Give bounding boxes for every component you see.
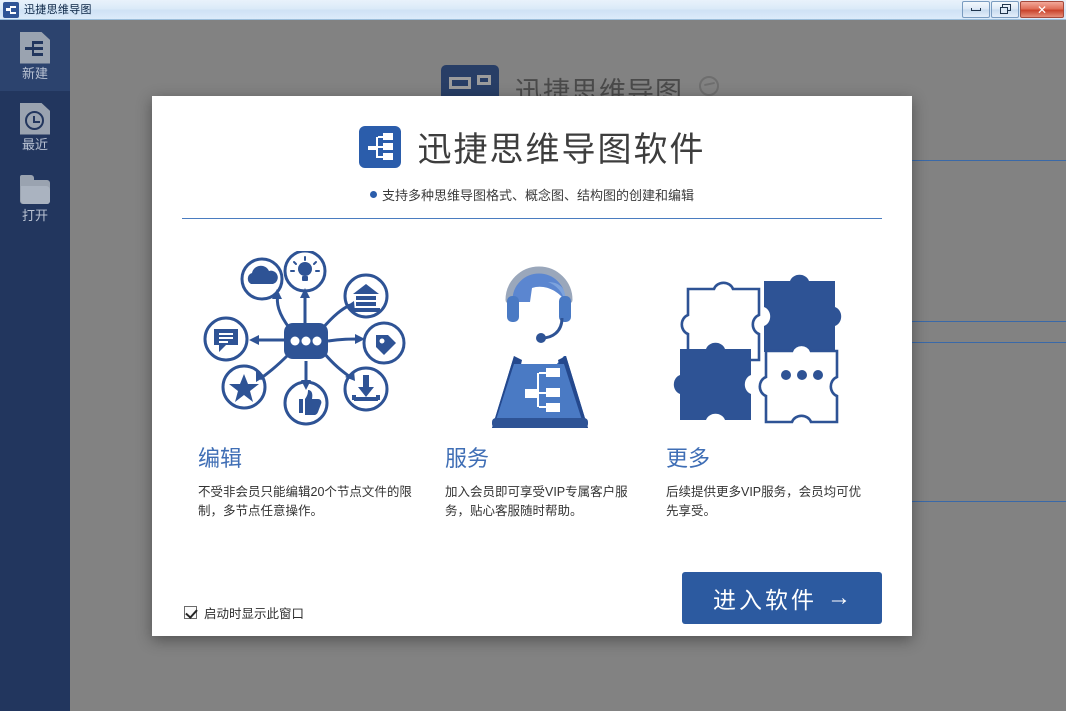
dialog-subtitle: 支持多种思维导图格式、概念图、结构图的创建和编辑 xyxy=(152,185,912,204)
dialog-header: 迅捷思维导图软件 支持多种思维导图格式、概念图、结构图的创建和编辑 xyxy=(152,96,912,219)
dialog-footer: 启动时显示此窗口 进入软件 → xyxy=(152,540,912,636)
sidebar: 新建 最近 打开 xyxy=(0,20,70,711)
mindmap-logo-icon xyxy=(359,126,401,168)
close-button[interactable]: ✕ xyxy=(1020,1,1064,18)
feature-body: 加入会员即可享受VIP专属客户服务，贴心客服随时帮助。 xyxy=(445,483,634,521)
show-on-startup-checkbox[interactable]: 启动时显示此窗口 xyxy=(184,603,304,622)
dialog-subtitle-text: 支持多种思维导图格式、概念图、结构图的创建和编辑 xyxy=(382,185,694,204)
recent-clock-icon xyxy=(20,103,50,135)
feature-heading: 服务 xyxy=(445,441,634,473)
sidebar-item-label: 新建 xyxy=(22,67,48,80)
checkbox-label: 启动时显示此窗口 xyxy=(204,603,304,622)
enter-software-button[interactable]: 进入软件 → xyxy=(682,572,882,624)
background-panel-1 xyxy=(897,160,1066,322)
bullet-dot-icon xyxy=(370,191,377,198)
new-document-icon xyxy=(20,32,50,64)
sidebar-item-recent[interactable]: 最近 xyxy=(0,91,70,162)
feature-heading: 编辑 xyxy=(198,441,413,473)
feature-edit: 编辑 不受非会员只能编辑20个节点文件的限制，多节点任意操作。 xyxy=(182,243,429,521)
window-title: 迅捷思维导图 xyxy=(24,0,92,20)
enter-software-label: 进入软件 xyxy=(713,581,817,615)
mindmap-hub-illustration xyxy=(198,243,413,433)
minimize-button[interactable] xyxy=(962,1,990,18)
sidebar-item-label: 打开 xyxy=(22,209,48,222)
puzzle-pieces-illustration xyxy=(666,243,866,433)
sidebar-item-label: 最近 xyxy=(22,138,48,151)
feature-more: 更多 后续提供更多VIP服务，会员均可优先享受。 xyxy=(650,243,882,521)
page-title: 迅捷思维导图软件 xyxy=(418,122,706,171)
application-window: 迅捷思维导图 ✕ 迅捷思维导图 xyxy=(0,0,1066,711)
window-controls: ✕ xyxy=(962,1,1064,18)
feature-heading: 更多 xyxy=(666,441,866,473)
sidebar-item-new[interactable]: 新建 xyxy=(0,20,70,91)
arrow-right-icon: → xyxy=(827,585,851,612)
feature-columns: 编辑 不受非会员只能编辑20个节点文件的限制，多节点任意操作。 xyxy=(152,219,912,521)
open-folder-icon xyxy=(20,174,50,206)
feature-body: 后续提供更多VIP服务，会员均可优先享受。 xyxy=(666,483,866,521)
feature-service: 服务 加入会员即可享受VIP专属客户服务，贴心客服随时帮助。 xyxy=(429,243,650,521)
title-bar: 迅捷思维导图 ✕ xyxy=(0,0,1066,20)
feature-body: 不受非会员只能编辑20个节点文件的限制，多节点任意操作。 xyxy=(198,483,413,521)
restore-button[interactable] xyxy=(991,1,1019,18)
checkbox-icon[interactable] xyxy=(184,606,197,619)
sidebar-item-open[interactable]: 打开 xyxy=(0,162,70,233)
background-panel-2 xyxy=(897,342,1066,502)
app-icon xyxy=(3,2,19,18)
minimize-icon xyxy=(971,8,981,11)
customer-service-agent-illustration xyxy=(445,243,634,433)
close-icon: ✕ xyxy=(1037,3,1047,17)
welcome-dialog: 迅捷思维导图软件 支持多种思维导图格式、概念图、结构图的创建和编辑 xyxy=(152,96,912,636)
restore-icon xyxy=(1000,4,1011,15)
